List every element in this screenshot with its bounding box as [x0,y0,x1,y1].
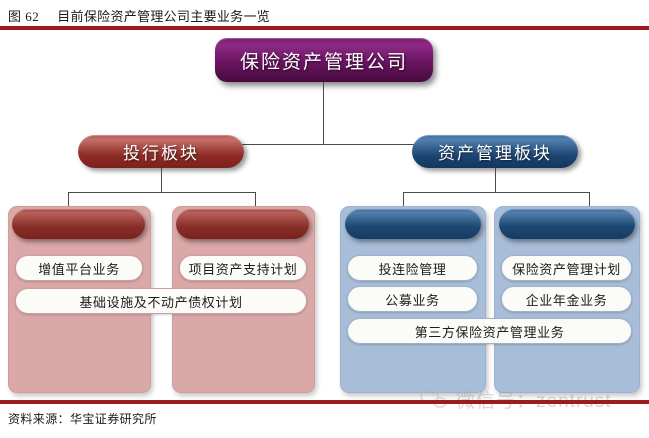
leaf-label: 基础设施及不动产债权计划 [79,292,242,311]
node-root-label: 保险资产管理公司 [240,47,408,74]
leaf-item[interactable]: 投连险管理 [347,255,478,281]
leaf-label: 企业年金业务 [526,290,608,309]
leaf-label: 增值平台业务 [38,259,120,278]
connector-right-child-2 [589,192,590,206]
diagram-canvas: 保险资产管理公司 投行板块 增值平台业务 项目资产支持计划 基础设施及不动产债权… [0,30,649,400]
figure-number: 图 62 [8,6,39,25]
leaf-label: 保险资产管理计划 [512,259,621,278]
connector-right-child-1 [403,192,404,206]
leaf-item[interactable]: 公募业务 [347,286,478,312]
leaf-label: 项目资产支持计划 [189,259,298,278]
leaf-item[interactable]: 企业年金业务 [501,286,632,312]
leaf-item[interactable]: 保险资产管理计划 [501,255,632,281]
branch-asset-management-label: 资产管理板块 [438,139,552,164]
panel-am-group-2-header [499,209,635,239]
figure-title: 目前保险资产管理公司主要业务一览 [57,6,270,25]
panel-ib-group-2-header [176,209,309,239]
leaf-item[interactable]: 项目资产支持计划 [179,255,307,281]
leaf-label: 第三方保险资产管理业务 [415,322,565,341]
connector-root-down [323,82,324,145]
connector-right-split [403,192,589,193]
connector-left-down [161,168,162,193]
connector-right-down [495,168,496,193]
panel-am-group-1-header [345,209,481,239]
leaf-label: 公募业务 [385,290,439,309]
connector-left-child-2 [255,192,256,206]
figure-root: 图 62 目前保险资产管理公司主要业务一览 保险资产管理公司 投行板块 增值平台… [0,0,649,438]
leaf-item-shared[interactable]: 第三方保险资产管理业务 [347,318,632,344]
branch-investment-banking-label: 投行板块 [123,139,199,164]
leaf-item-shared[interactable]: 基础设施及不动产债权计划 [15,288,307,314]
footer-rule [0,400,649,404]
connector-left-split [68,192,255,193]
branch-asset-management[interactable]: 资产管理板块 [412,135,578,168]
branch-investment-banking[interactable]: 投行板块 [78,135,244,168]
panel-ib-group-1-header [12,209,145,239]
node-root[interactable]: 保险资产管理公司 [215,38,433,82]
leaf-item[interactable]: 增值平台业务 [15,255,143,281]
connector-left-child-1 [68,192,69,206]
leaf-label: 投连险管理 [378,259,446,278]
source-note: 资料来源：华宝证券研究所 [8,410,157,427]
